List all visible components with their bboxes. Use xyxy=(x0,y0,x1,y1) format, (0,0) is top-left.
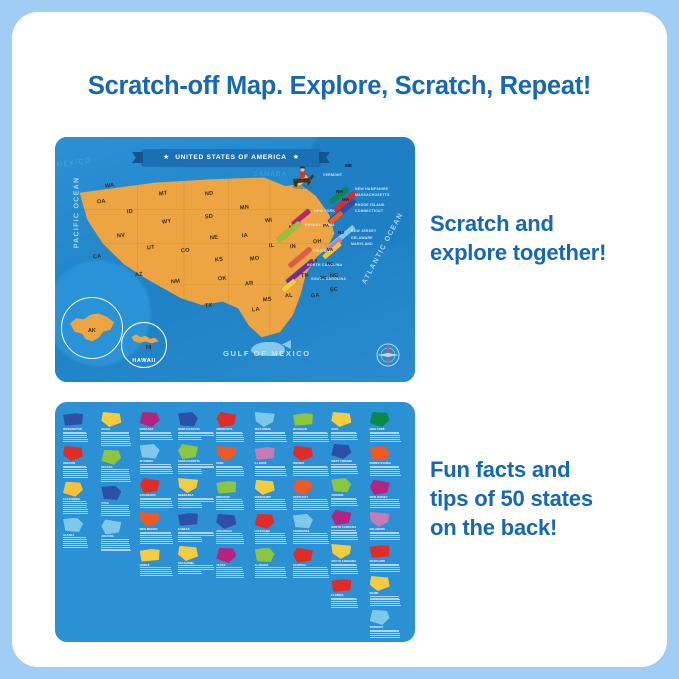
fact-line xyxy=(101,545,129,546)
fact-line xyxy=(63,541,87,542)
state-fact-text xyxy=(63,466,100,478)
fact-line xyxy=(63,509,88,510)
state-silhouette-nebraska xyxy=(178,478,198,493)
feature-text-fun-facts: Fun facts and tips of 50 states on the b… xyxy=(430,455,593,542)
fact-line xyxy=(331,501,357,502)
fact-line xyxy=(370,532,399,533)
fact-line xyxy=(293,466,327,467)
fact-line xyxy=(293,503,328,504)
state-fact-title: KANSAS xyxy=(178,528,215,531)
fact-line xyxy=(370,571,401,572)
fact-line xyxy=(178,573,202,574)
state-fact-title: IOWA xyxy=(216,462,253,465)
fact-line xyxy=(370,633,400,634)
state-fact-entry: IDAHO xyxy=(101,412,138,447)
fact-line xyxy=(101,481,130,482)
state-fact-title: SOUTH DAKOTA xyxy=(178,460,215,463)
state-fact-title: NEW JERSEY xyxy=(370,496,407,499)
ne-abbr-me: ME xyxy=(345,163,352,168)
state-silhouette-west-virginia xyxy=(331,444,351,459)
state-fact-title: MINNESOTA xyxy=(216,428,253,431)
state-fact-entry: WEST VIRGINIA xyxy=(331,444,368,475)
fact-line xyxy=(140,535,172,536)
feature-line: Scratch and xyxy=(430,209,606,238)
fact-line xyxy=(255,433,286,434)
fact-line xyxy=(63,507,87,508)
fact-line xyxy=(331,532,356,533)
feature-line: tips of 50 states xyxy=(430,484,593,513)
fact-line xyxy=(178,533,214,534)
state-fact-entry: MINNESOTA xyxy=(216,412,253,443)
state-silhouette-arkansas xyxy=(216,514,236,529)
fact-line xyxy=(293,471,328,472)
state-abbr-co: CO xyxy=(181,247,190,254)
fact-line xyxy=(331,503,357,504)
state-fact-title: ILLINOIS xyxy=(255,462,292,465)
fact-line xyxy=(140,473,173,474)
state-fact-title: ARKANSAS xyxy=(216,530,253,533)
fact-line xyxy=(331,464,356,465)
state-silhouette-washington xyxy=(63,412,83,427)
state-fact-entry: TEXAS xyxy=(216,548,253,579)
fact-line xyxy=(178,464,213,465)
state-fact-entry: IOWA xyxy=(216,446,253,477)
fact-line xyxy=(140,573,172,574)
state-fact-text xyxy=(101,539,138,551)
state-fact-title: INDIANA xyxy=(293,462,330,465)
state-fact-title: NORTH CAROLINA xyxy=(331,526,368,529)
state-silhouette-kansas xyxy=(178,512,198,527)
fact-line xyxy=(178,503,201,504)
state-fact-entry: OHIO xyxy=(331,412,368,441)
state-abbr-ga: GA xyxy=(311,292,320,299)
fact-line xyxy=(293,507,329,508)
state-silhouette-minnesota xyxy=(216,412,236,427)
fact-line xyxy=(255,437,286,438)
fact-line xyxy=(216,435,243,436)
state-fact-text xyxy=(370,532,407,541)
fact-line xyxy=(63,547,88,548)
fact-line xyxy=(140,467,172,468)
fact-line xyxy=(370,596,399,597)
state-fact-text xyxy=(255,567,292,577)
state-fact-title: ALASKA xyxy=(63,534,100,537)
fact-line xyxy=(178,567,214,568)
fact-line xyxy=(331,571,358,572)
state-fact-entry: NEVADA xyxy=(101,450,138,483)
state-abbr-ca: CA xyxy=(93,254,102,261)
state-abbr-tn: TN xyxy=(301,273,310,280)
state-fact-entry: NEW YORK xyxy=(370,412,407,443)
state-fact-text xyxy=(63,501,100,513)
ne-label-north-carolina: NORTH CAROLINA xyxy=(307,263,342,267)
fact-line xyxy=(178,471,202,472)
fact-line xyxy=(216,432,242,433)
state-fact-text xyxy=(63,537,100,547)
fact-line xyxy=(216,437,243,438)
fact-line xyxy=(370,435,400,436)
fact-line xyxy=(331,598,356,599)
fact-line xyxy=(216,533,242,534)
fact-line xyxy=(63,543,87,544)
state-fact-title: MISSISSIPPI xyxy=(255,496,292,499)
fact-line xyxy=(293,539,328,540)
fact-line xyxy=(178,467,214,468)
fact-line xyxy=(255,537,286,538)
fact-line xyxy=(370,598,399,599)
state-fact-entry: ARKANSAS xyxy=(216,514,253,545)
state-fact-text xyxy=(216,466,253,476)
state-fact-text xyxy=(293,533,330,543)
fact-line xyxy=(101,511,129,512)
state-fact-text xyxy=(370,432,407,442)
ne-abbr-pa: PA xyxy=(323,223,329,228)
fact-line xyxy=(140,543,174,544)
state-fact-text xyxy=(140,432,177,441)
state-fact-title: KENTUCKY xyxy=(293,496,330,499)
ne-abbr-nh: NH xyxy=(336,189,343,194)
fact-line xyxy=(101,539,128,540)
fact-line xyxy=(370,466,399,467)
fact-line xyxy=(178,469,201,470)
state-fact-entry: MAINE xyxy=(370,576,407,607)
fact-line xyxy=(101,541,129,542)
state-fact-entry: ALABAMA xyxy=(255,548,292,579)
state-abbr-oh: OH xyxy=(313,238,322,245)
fact-line xyxy=(370,505,400,506)
fact-line xyxy=(255,499,285,500)
fact-line xyxy=(101,513,130,514)
fact-line xyxy=(178,539,202,540)
fact-line xyxy=(331,505,358,506)
state-fact-text xyxy=(331,432,368,441)
state-fact-entry: WASHINGTON xyxy=(63,412,100,443)
state-fact-text xyxy=(216,499,253,509)
fact-line xyxy=(63,467,87,468)
fact-line xyxy=(101,477,130,478)
fact-line xyxy=(101,445,131,446)
state-fact-title: COLORADO xyxy=(140,494,177,497)
ne-abbr-nj: NJ xyxy=(338,230,344,235)
fact-line xyxy=(63,511,88,512)
state-fact-title: MICHIGAN xyxy=(293,428,330,431)
product-card: Scratch-off Map. Explore, Scratch, Repea… xyxy=(12,12,667,667)
feature-line: explore together! xyxy=(430,238,606,267)
state-fact-entry: FLORIDA xyxy=(331,578,368,609)
fact-line xyxy=(293,469,328,470)
fact-line xyxy=(178,499,214,500)
state-silhouette-colorado xyxy=(140,478,160,493)
fact-line xyxy=(216,571,243,572)
state-fact-text xyxy=(63,432,100,442)
fact-line xyxy=(140,471,173,472)
fact-line xyxy=(63,441,88,442)
fact-line xyxy=(216,535,243,536)
fact-line xyxy=(63,501,86,502)
fact-line xyxy=(178,432,213,433)
fact-line xyxy=(63,473,88,474)
fact-line xyxy=(331,473,358,474)
fact-line xyxy=(293,573,328,574)
fact-line xyxy=(370,473,401,474)
state-fact-title: NEW YORK xyxy=(370,428,407,431)
state-abbr-oa: OA xyxy=(97,198,106,205)
fact-line xyxy=(255,533,285,534)
fact-line xyxy=(370,503,400,504)
state-abbr-nv: NV xyxy=(117,233,126,240)
fact-line xyxy=(63,437,87,438)
fact-line xyxy=(101,435,129,436)
compass-rose-icon xyxy=(375,342,401,368)
state-silhouette-alaska xyxy=(63,518,83,533)
fact-line xyxy=(293,543,329,544)
hawaii-abbr: HI xyxy=(146,345,151,351)
ne-label-new-hampshire: NEW HAMPSHIRE xyxy=(355,187,388,191)
fact-line xyxy=(255,535,286,536)
fact-line xyxy=(255,475,287,476)
state-fact-entry: ALASKA xyxy=(63,518,100,549)
hawaii-inset-label: HAWAII xyxy=(122,358,166,364)
fact-line xyxy=(140,533,172,534)
state-abbr-sc: SC xyxy=(330,287,339,294)
fact-line xyxy=(140,433,172,434)
fact-line xyxy=(178,439,202,440)
fact-line xyxy=(178,565,213,566)
ne-label-maryland: MARYLAND xyxy=(351,242,373,246)
state-abbr-la: LA xyxy=(252,307,261,314)
fact-line xyxy=(370,501,399,502)
fact-line xyxy=(216,499,242,500)
fact-line xyxy=(63,545,88,546)
state-fact-title: WASHINGTON xyxy=(63,428,100,431)
fact-line xyxy=(293,537,328,538)
state-silhouette-alabama xyxy=(255,548,275,563)
fact-line xyxy=(331,569,357,570)
state-silhouette-new-mexico xyxy=(140,512,160,527)
state-fact-title: WEST VIRGINIA xyxy=(331,460,368,463)
fact-line xyxy=(370,507,401,508)
fact-line xyxy=(370,569,400,570)
fact-line xyxy=(255,473,287,474)
fact-line xyxy=(140,469,172,470)
fact-line xyxy=(255,575,287,576)
state-silhouette-oklahoma xyxy=(178,546,198,561)
state-silhouette-montana xyxy=(140,412,160,427)
fact-line xyxy=(255,439,287,440)
fact-line xyxy=(293,499,327,500)
state-fact-entry: INDIANA xyxy=(293,446,330,477)
fact-line xyxy=(101,479,130,480)
state-fact-text xyxy=(140,567,177,576)
state-fact-text xyxy=(216,567,253,577)
state-silhouette-idaho xyxy=(101,412,121,427)
ne-label-massachusetts: MASSACHUSETTS xyxy=(355,193,390,197)
state-silhouette-nevada xyxy=(101,450,121,465)
state-silhouette-indiana xyxy=(293,446,313,461)
state-fact-text xyxy=(370,466,407,476)
state-abbr-wy: WY xyxy=(162,218,172,225)
state-fact-text xyxy=(293,499,330,509)
fact-line xyxy=(331,435,357,436)
state-fact-title: MONTANA xyxy=(140,428,177,431)
state-silhouette-new-york xyxy=(370,412,390,427)
fact-line xyxy=(331,432,356,433)
state-silhouette-hawaii xyxy=(140,548,160,563)
fact-line xyxy=(101,469,128,470)
canada-label: CANADA xyxy=(253,171,287,178)
state-fact-entry: GEORGIA xyxy=(293,548,330,579)
fact-line xyxy=(255,539,286,540)
state-fact-title: UTAH xyxy=(101,502,138,505)
state-silhouette-missouri xyxy=(216,480,236,495)
gulf-of-mexico-label: GULF OF MEXICO xyxy=(223,349,311,358)
fact-line xyxy=(255,441,287,442)
state-fact-entry: CALIFORNIA xyxy=(63,482,100,515)
fact-line xyxy=(331,466,356,467)
fact-line xyxy=(216,467,243,468)
state-abbr-in: IN xyxy=(290,244,297,251)
feature-text-scratch-explore: Scratch and explore together! xyxy=(430,209,606,267)
fact-line xyxy=(63,471,87,472)
state-fact-text xyxy=(331,530,368,540)
fact-line xyxy=(63,466,86,467)
fact-line xyxy=(370,432,399,433)
state-fact-text xyxy=(178,464,215,474)
state-abbr-ok: OK xyxy=(218,275,227,282)
fact-line xyxy=(331,539,358,540)
fact-line xyxy=(178,507,202,508)
fact-line xyxy=(370,637,401,638)
state-fact-entry: VIRGINIA xyxy=(331,478,368,507)
fact-line xyxy=(331,603,357,604)
fact-line xyxy=(331,537,358,538)
ne-label-delaware: DELAWARE xyxy=(351,236,373,240)
fact-line xyxy=(293,467,328,468)
state-fact-text xyxy=(216,432,253,442)
state-fact-entry: KANSAS xyxy=(178,512,215,543)
state-silhouette-north-dakota xyxy=(178,412,198,427)
state-fact-entry: VERMONT xyxy=(370,610,407,639)
fact-line xyxy=(178,541,202,542)
ne-abbr-va: VA xyxy=(327,247,333,252)
state-abbr-ne: NE xyxy=(210,235,219,242)
fact-line xyxy=(293,569,328,570)
fact-line xyxy=(216,469,243,470)
state-silhouette-south-carolina xyxy=(331,544,351,559)
hawaii-inset: HI HAWAII xyxy=(121,322,167,368)
fact-line xyxy=(216,541,244,542)
state-abbr-wa: WA xyxy=(105,182,115,189)
state-fact-text xyxy=(293,432,330,442)
fact-line xyxy=(140,537,172,538)
state-abbr-ks: KS xyxy=(215,257,224,264)
ne-label-new-york: NEW YORK xyxy=(314,209,335,213)
fact-line xyxy=(255,435,286,436)
fact-line xyxy=(255,567,285,568)
fact-line xyxy=(370,567,400,568)
state-silhouette-vermont xyxy=(370,610,390,625)
ne-label-new-jersey: NEW JERSEY xyxy=(351,229,376,233)
fact-line xyxy=(331,573,358,574)
map-title-banner: ★ UNITED STATES OF AMERICA ★ xyxy=(141,149,321,166)
state-silhouette-south-dakota xyxy=(178,444,198,459)
state-abbr-ms: MS xyxy=(263,296,272,303)
facts-column: OHIOWEST VIRGINIAVIRGINIANORTH CAROLINAS… xyxy=(331,412,368,642)
state-fact-title: OKLAHOMA xyxy=(178,562,215,565)
back-side-facts-image: WASHINGTONOREGONCALIFORNIAALASKAIDAHONEV… xyxy=(55,402,415,642)
fact-line xyxy=(140,435,172,436)
fact-line xyxy=(293,475,329,476)
state-abbr-id: ID xyxy=(127,209,134,216)
fact-line xyxy=(331,564,356,565)
state-fact-entry: HAWAII xyxy=(140,548,177,577)
state-fact-entry: NEW JERSEY xyxy=(370,480,407,509)
state-silhouette-kentucky xyxy=(293,480,313,495)
fact-line xyxy=(140,432,171,433)
fact-line xyxy=(370,630,399,631)
fact-line xyxy=(140,499,172,500)
state-fact-title: WISCONSIN xyxy=(255,428,292,431)
fact-line xyxy=(216,537,243,538)
fact-line xyxy=(293,535,328,536)
scratch-map-image: CANADA MEXICO ★ UNITED STATES OF AMERICA… xyxy=(55,137,415,382)
fact-line xyxy=(370,441,401,442)
fact-line xyxy=(63,475,88,476)
fact-line xyxy=(216,509,244,510)
fact-line xyxy=(293,509,329,510)
state-fact-entry: MARYLAND xyxy=(370,544,407,573)
facts-column: MONTANAWYOMINGCOLORADONEW MEXICOHAWAII xyxy=(140,412,177,642)
state-fact-title: MISSOURI xyxy=(216,496,253,499)
fact-line xyxy=(255,469,286,470)
fact-line xyxy=(370,475,401,476)
state-fact-text xyxy=(370,499,407,508)
fact-line xyxy=(101,507,129,508)
state-fact-entry: LOUISIANA xyxy=(255,514,292,545)
state-fact-title: ARIZONA xyxy=(101,535,138,538)
state-fact-text xyxy=(293,466,330,476)
fact-line xyxy=(216,475,244,476)
state-facts-grid: WASHINGTONOREGONCALIFORNIAALASKAIDAHONEV… xyxy=(63,412,407,632)
facts-column: IDAHONEVADAUTAHARIZONA xyxy=(101,412,138,642)
fact-line xyxy=(370,564,399,565)
fact-line xyxy=(255,577,287,578)
fact-line xyxy=(255,573,286,574)
state-abbr-ar: AR xyxy=(245,281,254,288)
fact-line xyxy=(293,435,328,436)
fact-line xyxy=(331,467,357,468)
state-abbr-al: AL xyxy=(285,293,294,300)
fact-line xyxy=(370,631,399,632)
fact-line xyxy=(370,467,399,468)
state-fact-text xyxy=(331,464,368,474)
alaska-inset: AK xyxy=(61,297,123,359)
fact-line xyxy=(63,503,87,504)
fact-line xyxy=(140,539,173,540)
fact-line xyxy=(255,541,287,542)
fact-line xyxy=(216,539,243,540)
state-silhouette-maryland xyxy=(370,544,390,559)
fact-line xyxy=(255,466,285,467)
facts-column: NORTH DAKOTASOUTH DAKOTANEBRASKAKANSASOK… xyxy=(178,412,215,642)
state-fact-entry: ARIZONA xyxy=(101,519,138,552)
state-fact-entry: PENNSYLVANIA xyxy=(370,446,407,477)
fact-line xyxy=(255,501,286,502)
ne-label-rhode-island: RHODE ISLAND xyxy=(355,203,385,207)
state-abbr-ut: UT xyxy=(147,245,156,252)
state-fact-entry: NORTH CAROLINA xyxy=(331,510,368,541)
fact-line xyxy=(331,530,356,531)
